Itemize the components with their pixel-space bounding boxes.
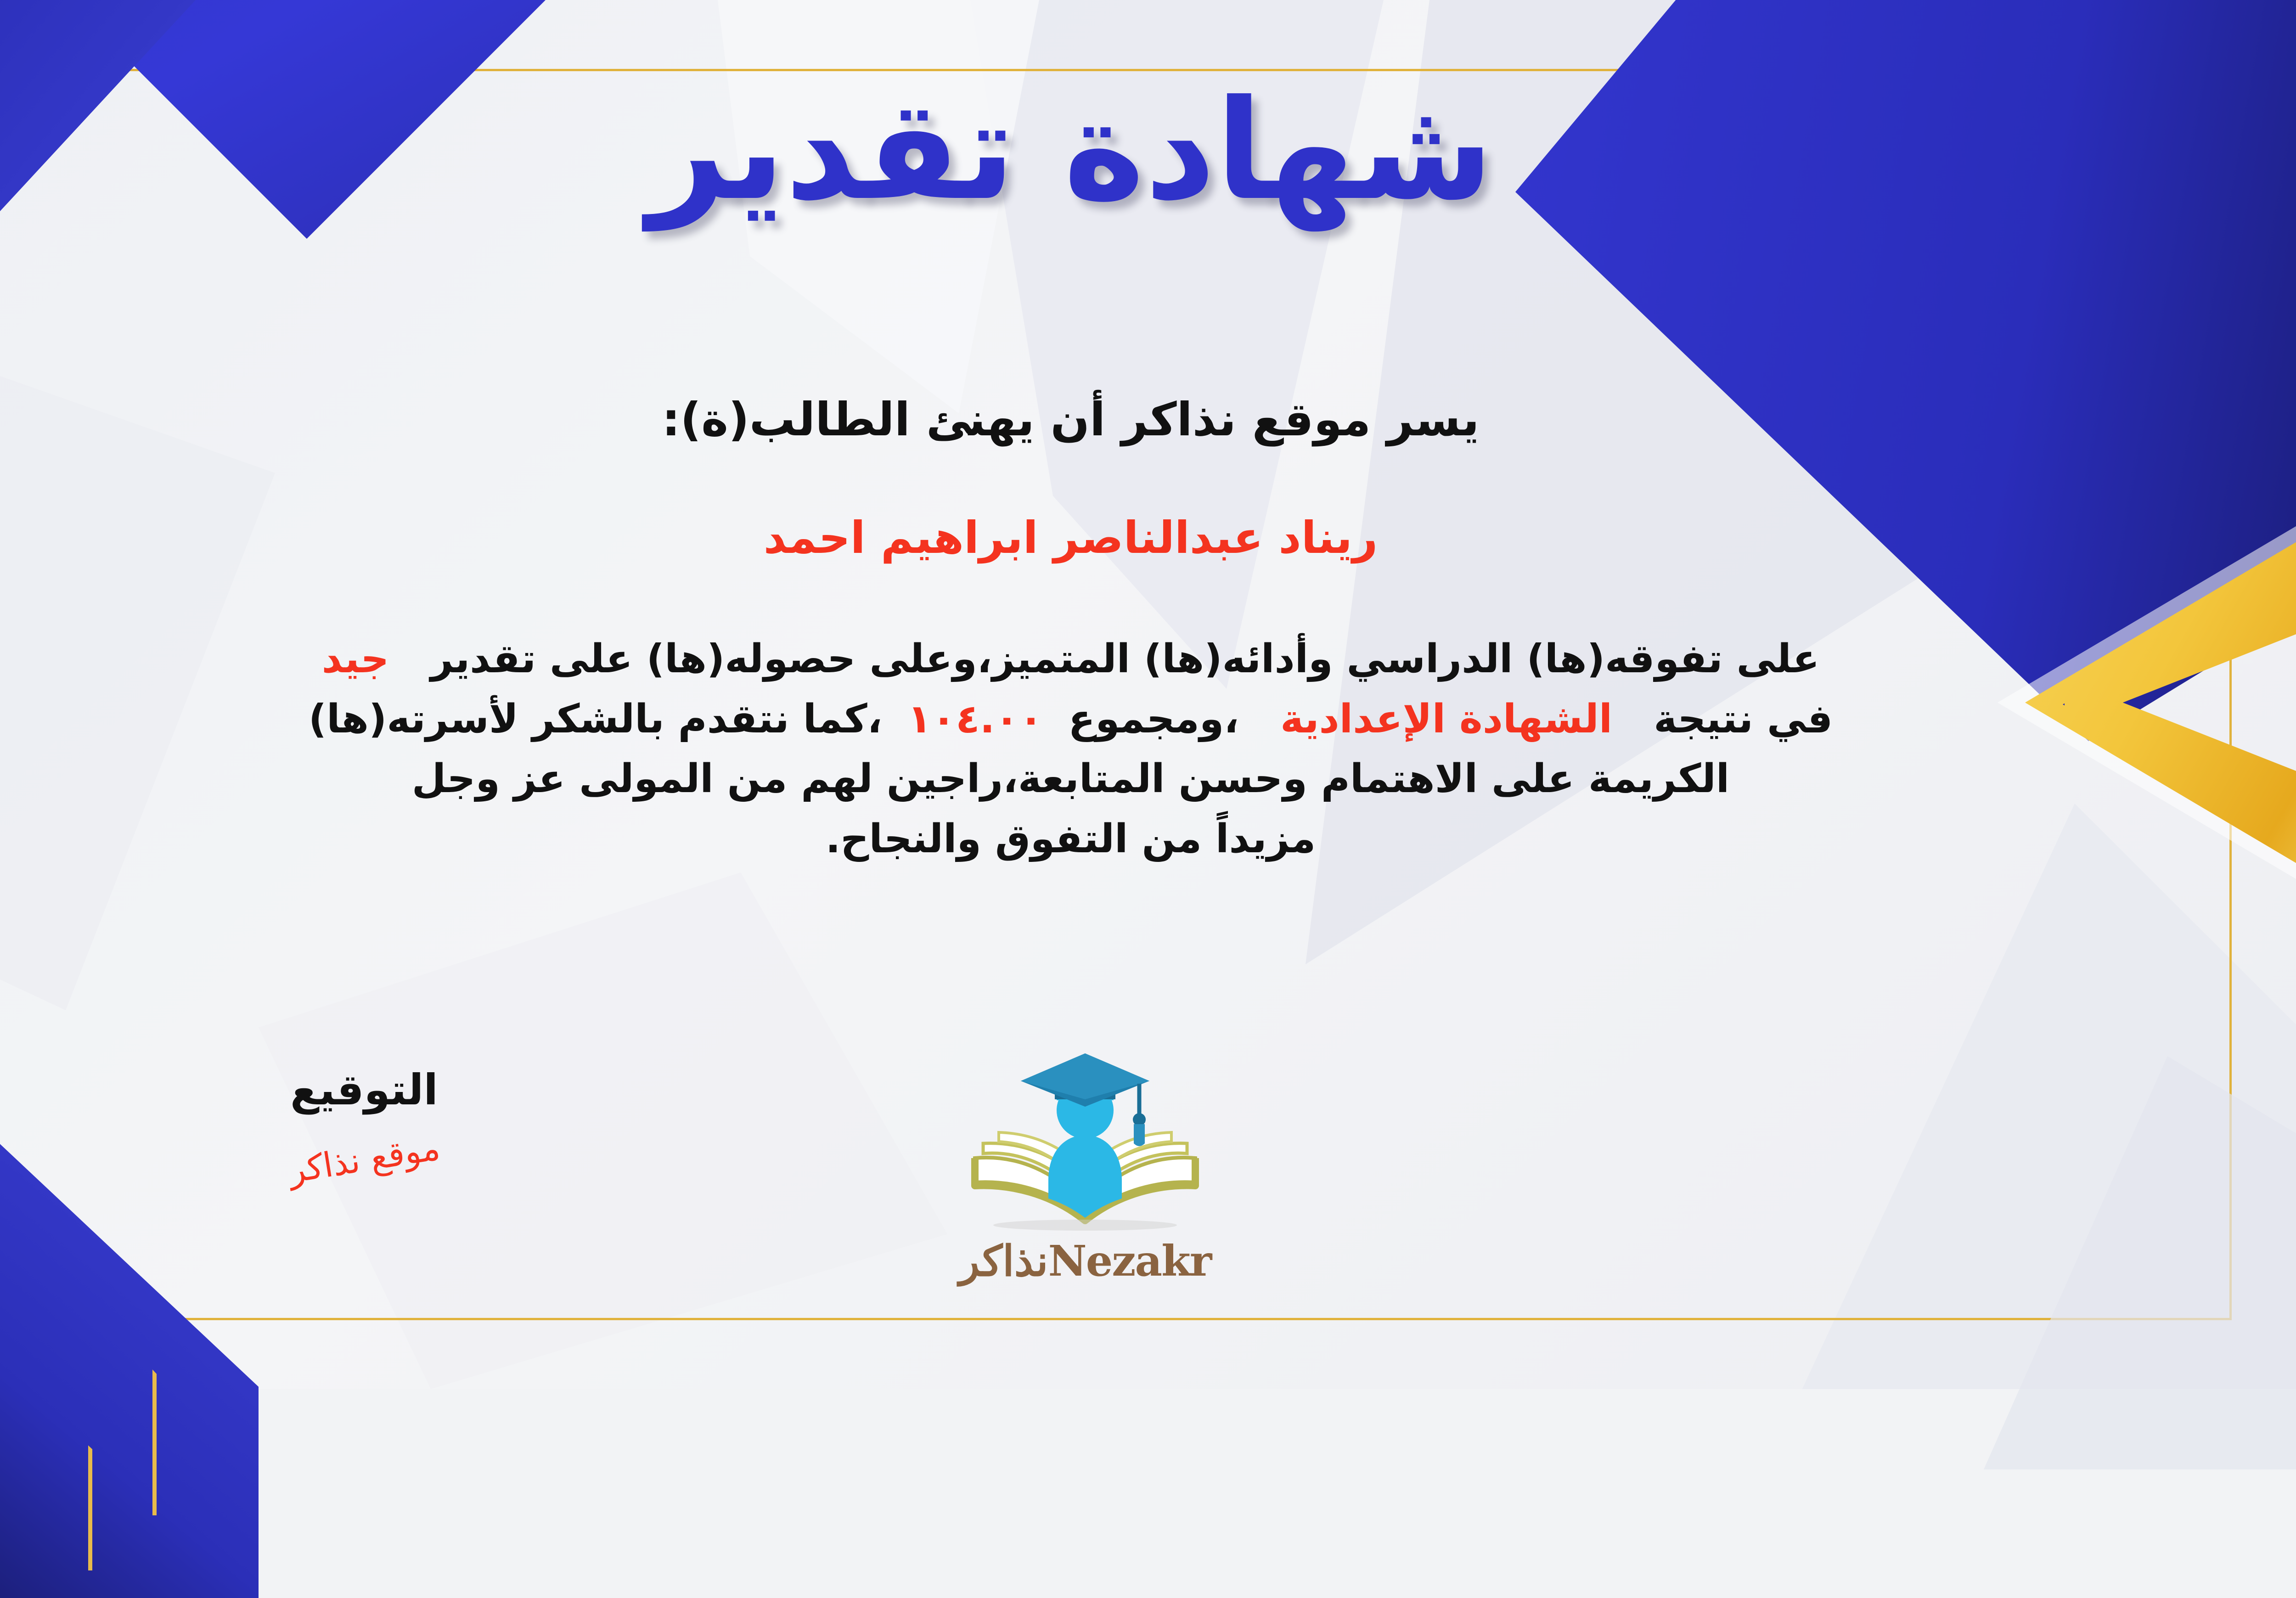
logo-arabic: نذاكر — [959, 1236, 1048, 1286]
body-text-thanks: ،كما نتقدم بالشكر لأسرته(ها) — [309, 696, 882, 742]
body-text-family: الكريمة على الاهتمام وحسن المتابعة،راجين… — [412, 756, 1729, 802]
signature-mark: موقع نذاكر — [286, 1128, 443, 1191]
body-text-result-prefix: في نتيجة — [1654, 696, 1833, 742]
body-line-family: الكريمة على الاهتمام وحسن المتابعة،راجين… — [0, 749, 2144, 809]
certificate-title: شهادة تقدير — [0, 78, 2296, 223]
graduate-book-icon — [957, 1052, 1214, 1244]
total-score: ١٠٤.٠٠ — [907, 696, 1043, 742]
body-text-achievement: على تفوقه(ها) الدراسي وأدائه(ها) المتميز… — [430, 636, 1819, 682]
body-text-wish: مزيداً من التفوق والنجاح. — [826, 816, 1316, 862]
certificate-content: شهادة تقدير يسر موقع نذاكر أن يهنئ الطال… — [0, 0, 2296, 1389]
certificate-body: على تفوقه(ها) الدراسي وأدائه(ها) المتميز… — [0, 629, 2144, 869]
site-logo: Nezakrنذاكر — [883, 1052, 1287, 1286]
exam-name: الشهادة الإعدادية — [1280, 696, 1612, 742]
intro-line: يسر موقع نذاكر أن يهنئ الطالب(ة): — [0, 393, 2296, 446]
logo-latin: Nezakr — [1048, 1236, 1211, 1286]
signature-block: التوقيع موقع نذاكر — [203, 1065, 525, 1179]
student-name: ريناد عبدالناصر ابراهيم احمد — [0, 512, 2296, 563]
body-line-achievement: على تفوقه(ها) الدراسي وأدائه(ها) المتميز… — [0, 629, 2144, 689]
body-text-total-label: ،ومجموع — [1068, 696, 1239, 742]
signature-label: التوقيع — [203, 1065, 525, 1114]
grade-value: جيد — [322, 636, 389, 682]
body-line-wish: مزيداً من التفوق والنجاح. — [0, 809, 2144, 869]
body-line-exam: في نتيجةالشهادة الإعدادية،ومجموع١٠٤.٠٠،ك… — [0, 689, 2144, 749]
logo-wordmark: Nezakrنذاكر — [883, 1236, 1287, 1286]
